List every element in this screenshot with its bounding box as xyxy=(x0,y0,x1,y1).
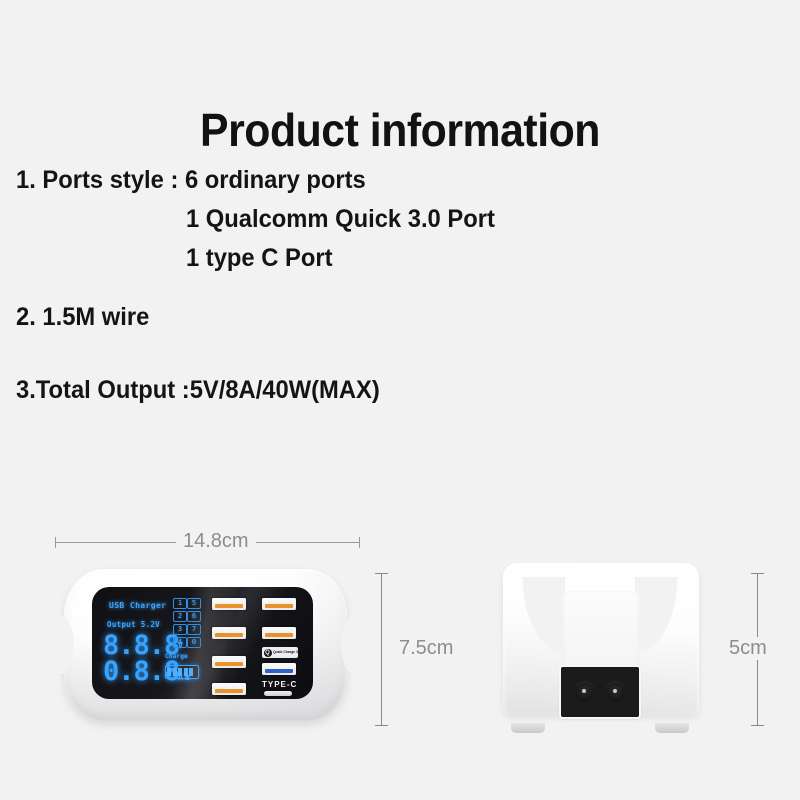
product-figure-area: 14.8cm 7.5cm 5cm USB Charger Output 5.2V… xyxy=(0,515,800,775)
type-c-port xyxy=(264,691,292,696)
lcd-grid-cell: 4 xyxy=(173,637,187,648)
charger-waist-right xyxy=(341,616,367,674)
lcd-grid-cell: 5 xyxy=(187,598,201,609)
spec-type-c-port: 1 type C Port xyxy=(186,246,747,271)
lcd-port-number-grid: 1 5 2 6 3 7 4 0 xyxy=(173,598,199,648)
depth-dim-line xyxy=(381,573,382,725)
height-dim-label: 5cm xyxy=(722,637,774,660)
lcd-grid-cell: 6 xyxy=(187,611,201,622)
depth-dim-label: 7.5cm xyxy=(392,637,460,660)
spec-ports-style: 1. Ports style : 6 ordinary ports xyxy=(16,168,738,193)
charger-black-panel: USB Charger Output 5.2V 8.8.8 0.8.8. V A… xyxy=(92,587,313,699)
lcd-grid-cell: 2 xyxy=(173,611,187,622)
spec-list: 1. Ports style : 6 ordinary ports 1 Qual… xyxy=(16,168,776,403)
spec-wire-length: 2. 1.5M wire xyxy=(16,305,738,330)
lcd-grid-cell: 7 xyxy=(187,624,201,635)
lcd-battery-bar xyxy=(184,668,188,676)
lcd-battery-indicator xyxy=(165,665,199,679)
usb-port-ordinary xyxy=(212,683,246,695)
qc-logo-icon: Q xyxy=(264,649,272,657)
ac-socket-pin-left xyxy=(574,681,595,702)
spec-total-output: 3.Total Output :5V/8A/40W(MAX) xyxy=(16,378,738,403)
charger-foot-right xyxy=(655,723,689,733)
usb-port-ordinary xyxy=(212,598,246,610)
charger-side-view xyxy=(485,563,715,728)
lcd-battery-bar xyxy=(167,668,171,676)
height-dim-cap-bottom xyxy=(751,725,764,726)
lcd-battery-bar xyxy=(189,668,193,676)
lcd-charge-label: Charge xyxy=(165,653,188,660)
lcd-title-text: USB Charger xyxy=(109,601,166,610)
charger-foot-left xyxy=(511,723,545,733)
lcd-display: USB Charger Output 5.2V 8.8.8 0.8.8. V A… xyxy=(99,593,203,691)
depth-dim-cap-bottom xyxy=(375,725,388,726)
charger-side-inner-panel xyxy=(563,591,639,669)
lcd-battery-bar xyxy=(178,668,182,676)
charger-front-view: USB Charger Output 5.2V 8.8.8 0.8.8. V A… xyxy=(60,565,355,725)
page-title: Product information xyxy=(28,103,772,157)
charger-waist-left xyxy=(48,616,74,674)
qc-badge-text: Quick Charge 3.0 xyxy=(273,651,298,655)
ac-socket xyxy=(561,667,639,717)
ac-socket-pin-right xyxy=(605,681,626,702)
width-dim-label: 14.8cm xyxy=(176,530,256,553)
width-dim-cap-right xyxy=(359,537,360,548)
usb-port-ordinary xyxy=(262,627,296,639)
usb-port-ordinary xyxy=(212,627,246,639)
lcd-grid-cell: 3 xyxy=(173,624,187,635)
lcd-grid-cell: 0 xyxy=(187,637,201,648)
charger-side-flare-left xyxy=(503,577,565,715)
spec-qc-port: 1 Qualcomm Quick 3.0 Port xyxy=(186,207,747,232)
usb-port-ordinary xyxy=(262,598,296,610)
type-c-label: TYPE-C xyxy=(262,680,297,689)
lcd-grid-cell: 1 xyxy=(173,598,187,609)
usb-port-quick-charge xyxy=(262,663,296,675)
quick-charge-badge-icon: Q Quick Charge 3.0 xyxy=(262,647,298,658)
usb-port-ordinary xyxy=(212,656,246,668)
lcd-output-text: Output 5.2V xyxy=(107,620,160,629)
lcd-battery-bar xyxy=(173,668,177,676)
